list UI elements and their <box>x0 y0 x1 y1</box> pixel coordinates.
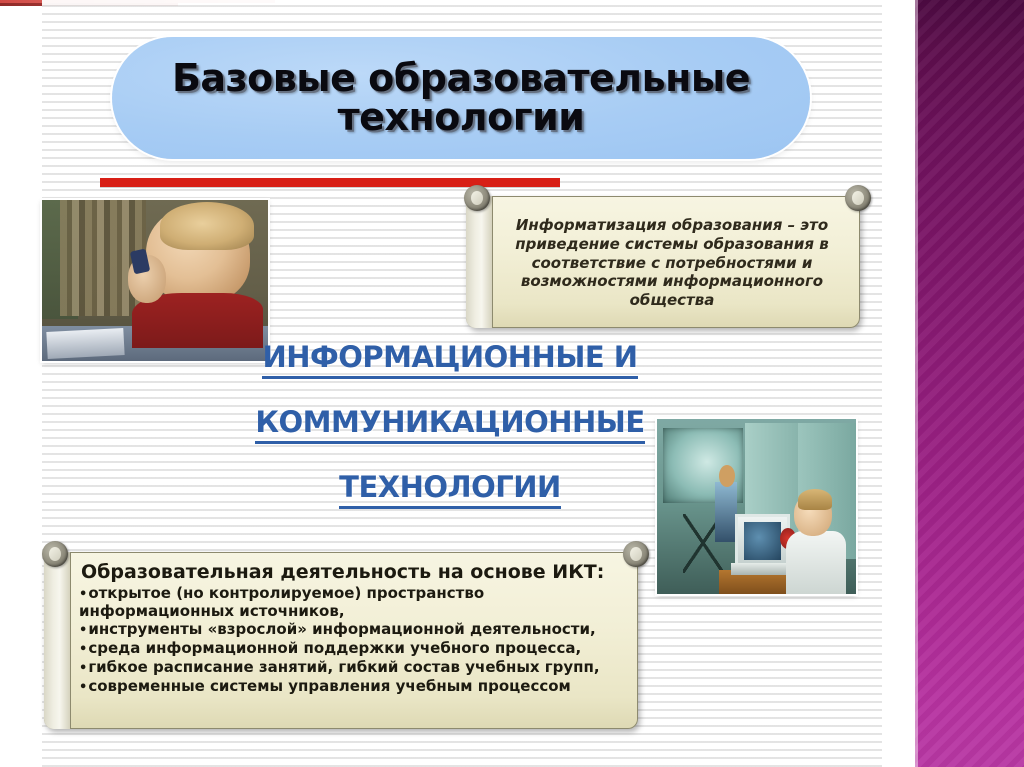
sidebar-left-highlight <box>915 0 918 767</box>
list-item: современные системы управления учебным п… <box>79 678 625 696</box>
scroll-curl-icon <box>42 541 68 567</box>
callout-edu-list: открытое (но контролируемое) пространств… <box>79 585 625 696</box>
callout-informatization-text: Информатизация образования – это приведе… <box>497 216 847 310</box>
scroll-curl-icon <box>623 541 649 567</box>
purple-gradient-sidebar <box>915 0 1024 767</box>
scroll-roll-left <box>466 196 493 328</box>
callout-educational-activity: Образовательная деятельность на основе И… <box>44 552 638 729</box>
ict-heading-block: ИНФОРМАЦИОННЫЕ И КОММУНИКАЦИОННЫЕ ТЕХНОЛ… <box>248 340 652 509</box>
photo-book <box>46 328 124 359</box>
callout-informatization: Информатизация образования – это приведе… <box>466 196 860 328</box>
photo-classroom-computer-projector <box>657 419 856 594</box>
ict-heading-line-1: ИНФОРМАЦИОННЫЕ И <box>262 340 637 379</box>
callout-edu-header: Образовательная деятельность на основе И… <box>81 561 625 583</box>
list-item: гибкое расписание занятий, гибкий состав… <box>79 659 625 677</box>
page-title: Базовые образовательные технологии <box>158 59 764 137</box>
scroll-curl-icon <box>464 185 490 211</box>
photo-teacher-body <box>715 482 737 542</box>
list-item: среда информационной поддержки учебного … <box>79 640 625 658</box>
slide-title-bubble: Базовые образовательные технологии <box>112 37 810 159</box>
photo-thinking-toddler <box>42 200 268 361</box>
photo-child-body <box>786 531 846 594</box>
list-item: инструменты «взрослой» информационной де… <box>79 621 625 639</box>
callout-body: Информатизация образования – это приведе… <box>497 205 847 321</box>
scroll-roll-left <box>44 552 71 729</box>
red-divider-top <box>100 178 560 187</box>
photo-child-hair <box>160 202 255 250</box>
scroll-curl-icon <box>845 185 871 211</box>
ict-heading-line-3: ТЕХНОЛОГИИ <box>339 470 561 509</box>
ict-heading-line-2: КОММУНИКАЦИОННЫЕ <box>255 405 644 444</box>
callout-body: Образовательная деятельность на основе И… <box>79 560 625 722</box>
photo-keyboard <box>731 563 787 575</box>
photo-teacher-head <box>719 465 735 488</box>
presentation-slide: Базовые образовательные технологии Инфор… <box>0 0 1024 767</box>
list-item: открытое (но контролируемое) пространств… <box>79 585 625 620</box>
photo-child-hair <box>798 489 832 510</box>
